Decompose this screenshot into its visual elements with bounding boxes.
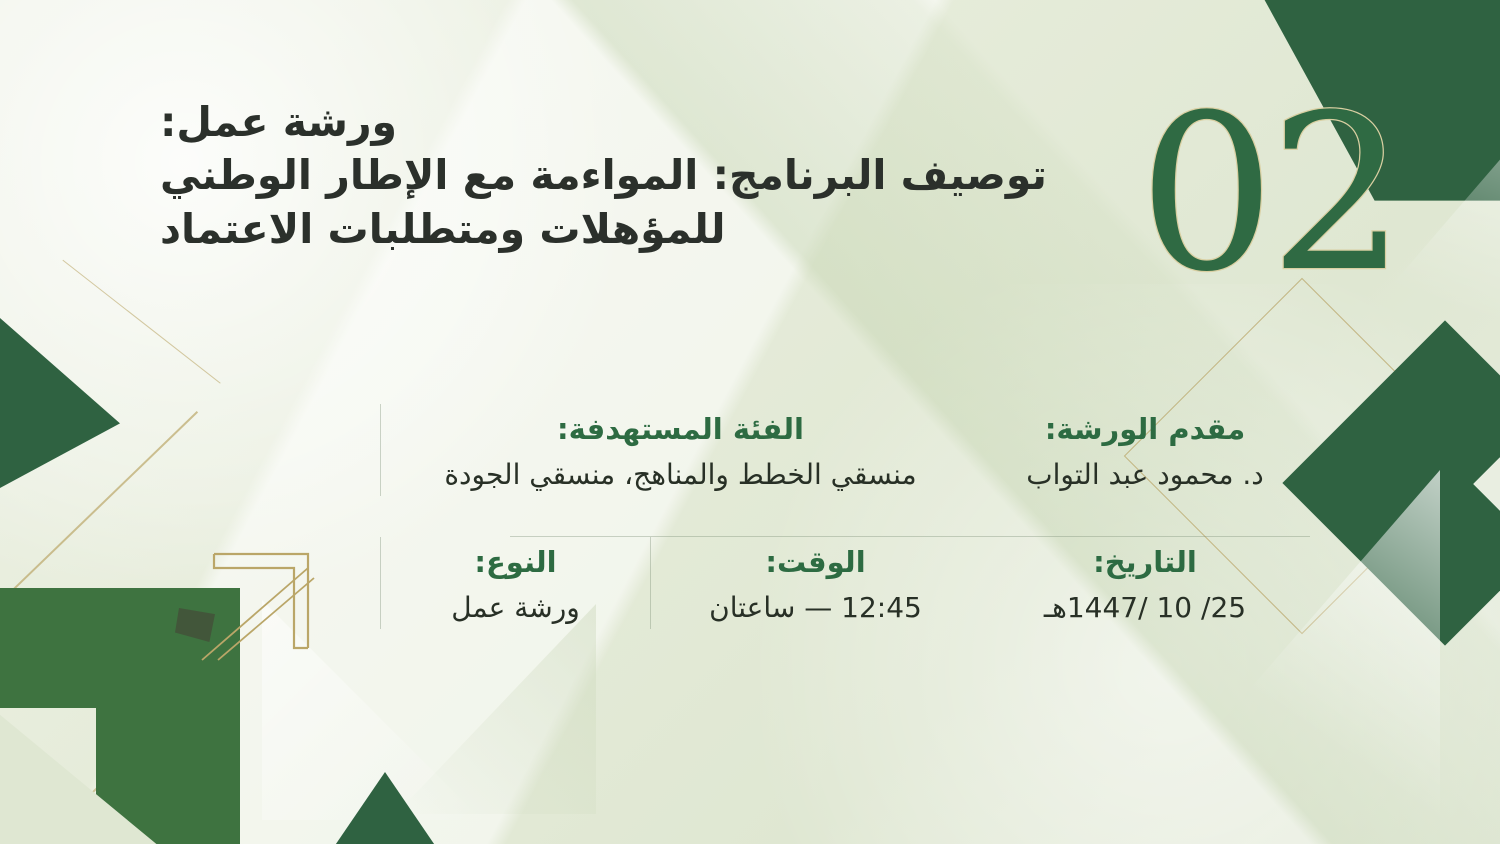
audience-label: الفئة المستهدفة: [409,410,952,449]
title-line-3: للمؤهلات ومتطلبات الاعتماد [160,203,1160,256]
date-value: 25/ 10 /1447هـ [1008,588,1282,629]
time-value: 12:45 — ساعتان [679,588,952,629]
slide-title: ورشة عمل: توصيف البرنامج: المواءمة مع ال… [160,96,1160,256]
details-row-bottom: التاريخ: 25/ 10 /1447هـ الوقت: 12:45 — س… [300,537,1310,669]
date-label: التاريخ: [1008,543,1282,582]
details-row-top: مقدم الورشة: د. محمود عبد التواب الفئة ا… [300,404,1310,536]
presenter-label: مقدم الورشة: [1008,410,1282,449]
slide-number: 02 [1138,86,1400,301]
workshop-details-grid: مقدم الورشة: د. محمود عبد التواب الفئة ا… [300,404,1310,669]
detail-date: التاريخ: 25/ 10 /1447هـ [980,537,1310,629]
type-label: النوع: [409,543,622,582]
title-line-2: توصيف البرنامج: المواءمة مع الإطار الوطن… [160,149,1160,202]
presenter-value: د. محمود عبد التواب [1008,455,1282,496]
workshop-announcement-slide: 02 ورشة عمل: توصيف البرنامج: المواءمة مع… [0,0,1500,844]
detail-audience: الفئة المستهدفة: منسقي الخطط والمناهج، م… [380,404,980,496]
detail-presenter: مقدم الورشة: د. محمود عبد التواب [980,404,1310,496]
title-line-1: ورشة عمل: [160,96,1160,149]
detail-time: الوقت: 12:45 — ساعتان [650,537,980,629]
type-value: ورشة عمل [409,588,622,629]
audience-value: منسقي الخطط والمناهج، منسقي الجودة [409,455,952,496]
detail-type: النوع: ورشة عمل [380,537,650,629]
time-label: الوقت: [679,543,952,582]
